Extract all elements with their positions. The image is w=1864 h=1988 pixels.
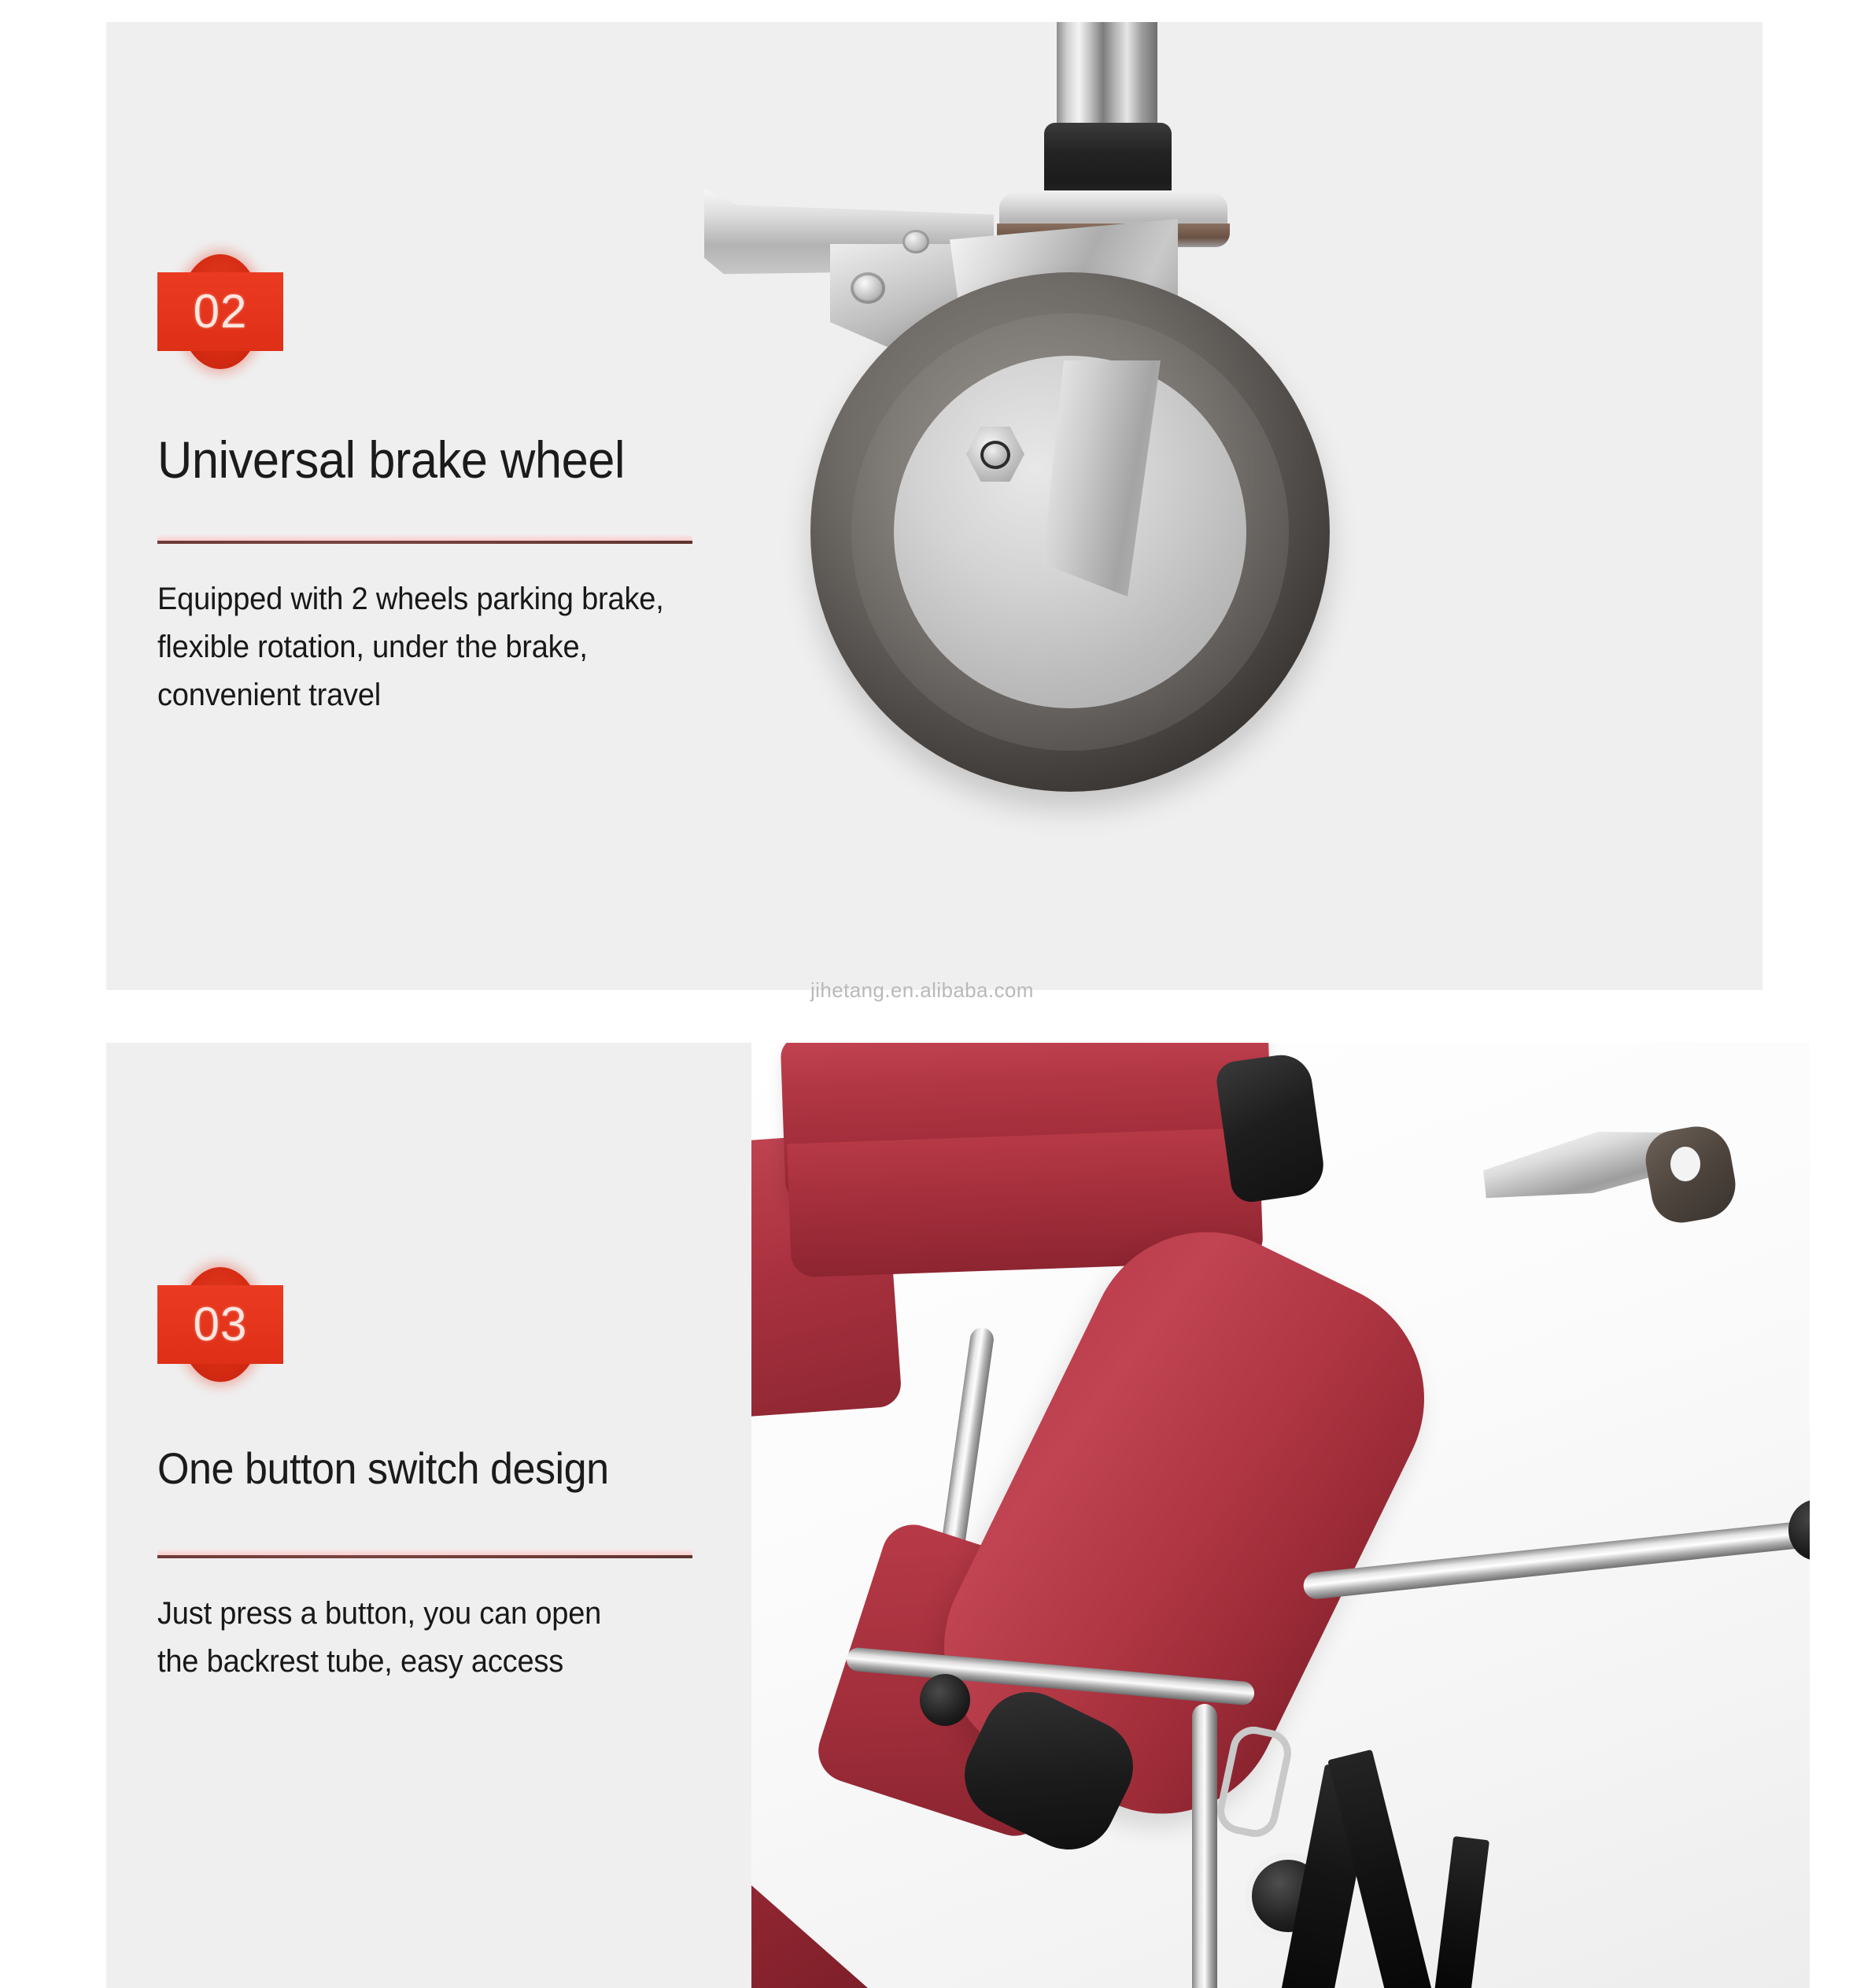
site-watermark: jihetang.en.alibaba.com bbox=[810, 978, 1034, 1003]
body-line: the backrest tube, easy access bbox=[157, 1638, 740, 1686]
feature-title-brake-wheel: Universal brake wheel bbox=[157, 433, 728, 487]
feature-panel-one-button-switch: 03 One button switch design Just press a… bbox=[106, 1043, 1810, 1988]
badge-square-shape: 02 bbox=[157, 272, 283, 351]
bolster-frame-photo bbox=[751, 1043, 1810, 1988]
frame-knob-icon bbox=[920, 1674, 970, 1726]
feature-body-brake-wheel: Equipped with 2 wheels parking brake, fl… bbox=[157, 575, 740, 719]
brake-wheel-text-block: 02 Universal brake wheel Equipped with 2… bbox=[157, 254, 771, 751]
frame-tube-vertical-icon bbox=[1192, 1704, 1217, 1988]
screw-top-icon bbox=[902, 230, 929, 253]
title-divider bbox=[157, 1549, 692, 1558]
body-line: Just press a button, you can open bbox=[157, 1590, 740, 1638]
body-line: Equipped with 2 wheels parking brake, bbox=[157, 575, 740, 623]
badge-number-label: 03 bbox=[194, 1301, 248, 1348]
badge-number-label: 02 bbox=[194, 288, 248, 335]
divider-rule bbox=[157, 541, 692, 544]
feature-panel-brake-wheel: 02 Universal brake wheel Equipped with 2… bbox=[106, 22, 1762, 990]
body-line: convenient travel bbox=[157, 671, 740, 719]
product-detail-page: 02 Universal brake wheel Equipped with 2… bbox=[0, 0, 1864, 1988]
divider-rule bbox=[157, 1555, 692, 1558]
lever-hole-icon bbox=[1670, 1147, 1700, 1181]
feature-number-badge-02: 02 bbox=[157, 254, 283, 384]
screw-middle-icon bbox=[851, 272, 885, 304]
body-line: flexible rotation, under the brake, bbox=[157, 623, 740, 671]
feature-number-badge-03: 03 bbox=[157, 1267, 283, 1397]
one-button-switch-text-block: 03 One button switch design Just press a… bbox=[157, 1267, 771, 1716]
hub-axle-icon bbox=[980, 441, 1010, 469]
feature-body-one-button-switch: Just press a button, you can open the ba… bbox=[157, 1590, 740, 1686]
feature-title-one-button-switch: One button switch design bbox=[157, 1446, 728, 1492]
title-divider bbox=[157, 534, 692, 544]
caster-wheel-photo bbox=[704, 22, 1762, 990]
badge-square-shape: 03 bbox=[157, 1285, 283, 1364]
chrome-tube-icon bbox=[1057, 22, 1157, 132]
